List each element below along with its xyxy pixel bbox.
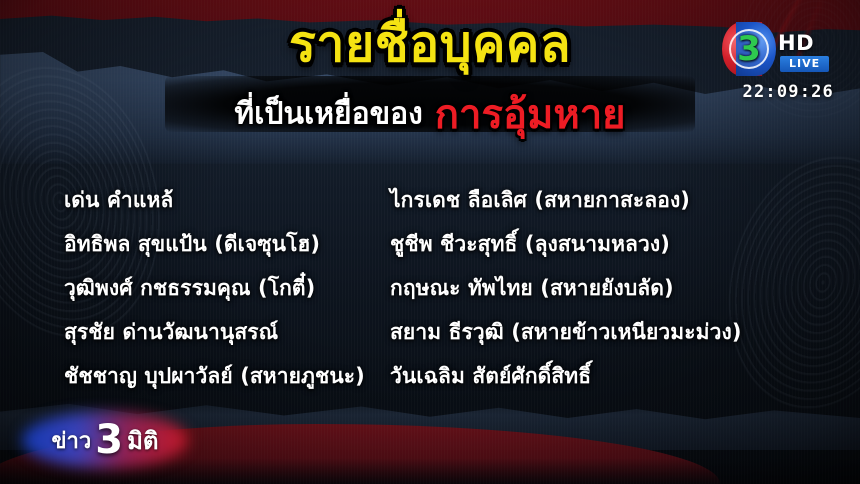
live-badge: LIVE (780, 56, 829, 72)
program-logo-khao-3-miti: ข่าว 3 มิติ (22, 412, 188, 468)
program-logo-word-news: ข่าว (52, 423, 92, 458)
list-item: ชูชีพ ชีวะสุทธิ์ (ลุงสนามหลวง) (390, 222, 860, 266)
list-item: วันเฉลิม สัตย์ศักดิ์สิทธิ์ (390, 354, 860, 398)
list-item: เด่น คำแหล้ (64, 178, 382, 222)
list-item: กฤษณะ ทัพไทย (สหายยังบลัด) (390, 266, 860, 310)
headline-sub: ที่เป็นเหยื่อของการอุ้มหาย (0, 82, 860, 146)
name-column-left: เด่น คำแหล้ อิทธิพล สุขแป้น (ดีเจซุนโฮ) … (0, 178, 382, 398)
list-item: สยาม ธีรวุฒิ (สหายข้าวเหนียวมะม่วง) (390, 310, 860, 354)
broadcast-clock: 22:09:26 (743, 82, 834, 102)
list-item: วุฒิพงศ์ กชธรรมคุณ (โกตี๋) (64, 266, 382, 310)
list-item: ชัชชาญ บุปผาวัลย์ (สหายภูชนะ) (64, 354, 382, 398)
channel-3-mark-icon: 3 (722, 22, 776, 76)
channel-3-numeral: 3 (722, 22, 776, 76)
list-item: สุรชัย ด่านวัฒนานุสรณ์ (64, 310, 382, 354)
headline-main: รายชื่อบุคคล (279, 18, 581, 71)
headline-sub-white: ที่เป็นเหยื่อของ (234, 97, 422, 132)
headline-sub-red: การอุ้มหาย (435, 92, 626, 138)
program-logo-text: ข่าว 3 มิติ (22, 412, 188, 468)
channel-3-hd-logo: 3 HD LIVE (722, 22, 838, 76)
name-column-right: ไกรเดช ลือเลิศ (สหายกาสะลอง) ชูชีพ ชีวะส… (382, 178, 860, 398)
list-item: อิทธิพล สุขแป้น (ดีเจซุนโฮ) (64, 222, 382, 266)
list-item: ไกรเดช ลือเลิศ (สหายกาสะลอง) (390, 178, 860, 222)
broadcast-graphic-screen: รายชื่อบุคคล ที่เป็นเหยื่อของการอุ้มหาย … (0, 0, 860, 484)
victim-name-lists: เด่น คำแหล้ อิทธิพล สุขแป้น (ดีเจซุนโฮ) … (0, 178, 860, 398)
channel-hd-label: HD (778, 31, 814, 55)
program-logo-word-dimension: มิติ (127, 421, 158, 460)
program-logo-numeral: 3 (95, 420, 123, 460)
